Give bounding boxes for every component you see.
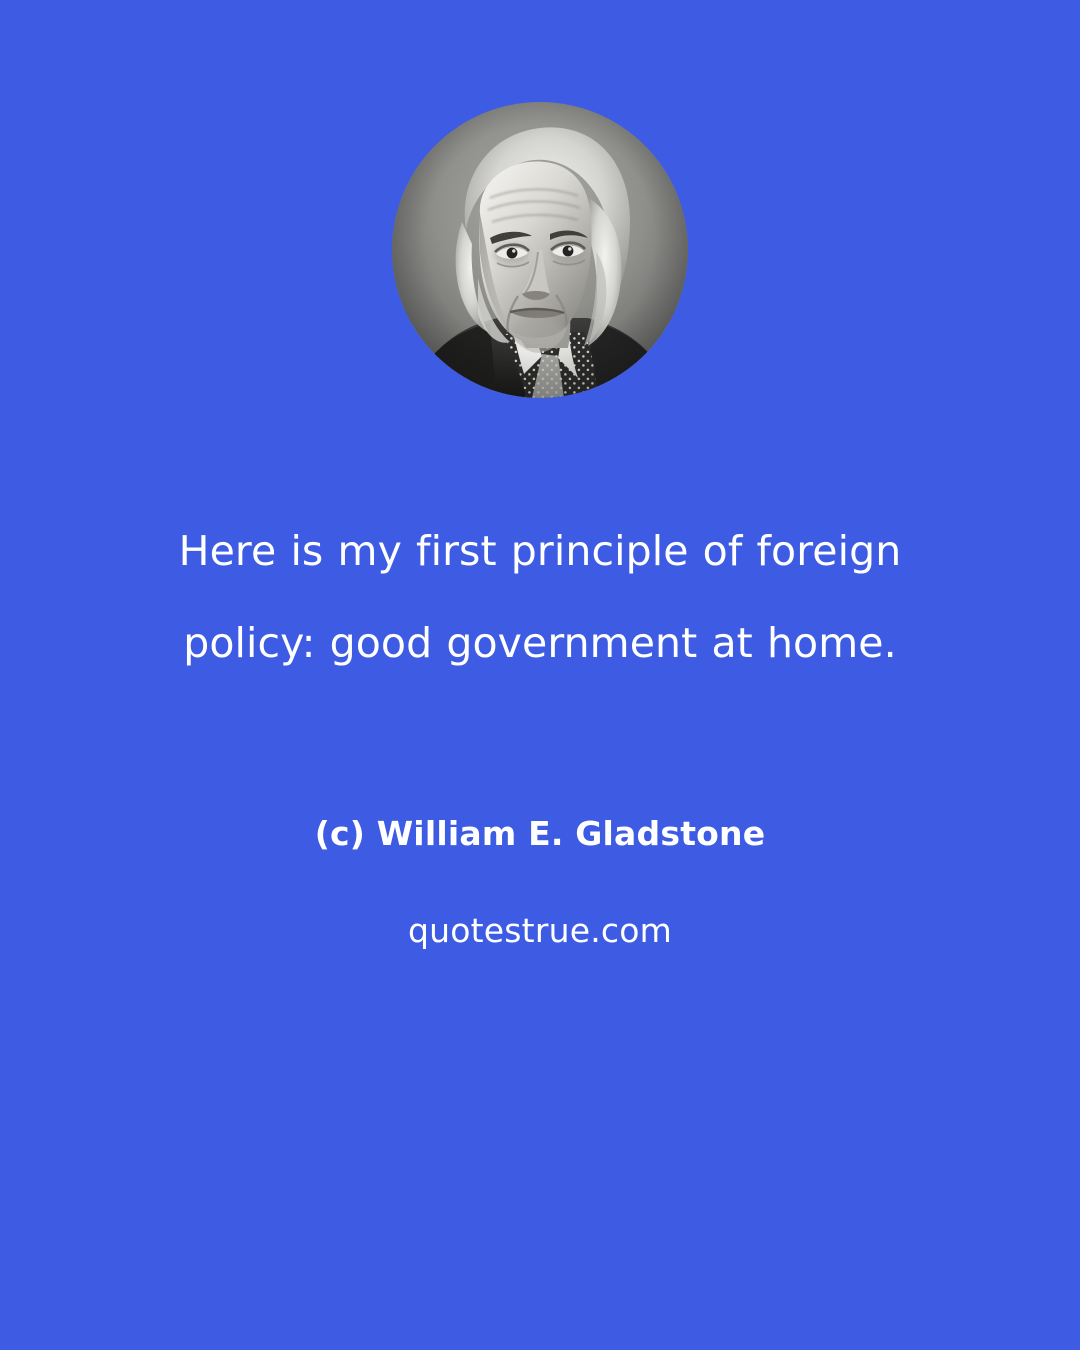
portrait-photo xyxy=(392,102,688,398)
quote-card: Here is my first principle of foreign po… xyxy=(0,0,1080,1350)
quote-line-2: policy: good government at home. xyxy=(90,597,990,689)
portrait-container xyxy=(392,102,688,398)
quote-author: (c) William E. Gladstone xyxy=(90,812,990,856)
attribution-block: (c) William E. Gladstone quotestrue.com xyxy=(90,812,990,953)
quote-block: Here is my first principle of foreign po… xyxy=(90,505,990,689)
quote-line-1: Here is my first principle of foreign xyxy=(90,505,990,597)
source-website: quotestrue.com xyxy=(90,909,990,953)
